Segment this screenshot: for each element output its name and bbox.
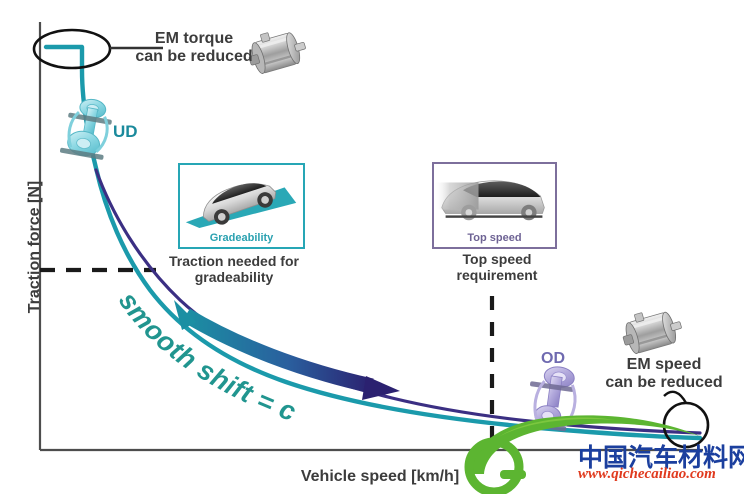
- diagram-vector-layer: smooth shift = comfort: [0, 0, 744, 494]
- top-speed-card: Top speed: [432, 162, 557, 249]
- car-speeding-icon: [434, 164, 555, 230]
- od-label: OD: [541, 350, 565, 368]
- y-axis-label: Traction force [N]: [26, 157, 44, 337]
- electric-motor-icon-bottom: [618, 303, 685, 356]
- top-speed-caption: Top speed: [434, 232, 555, 244]
- underdrive-gear-icon: [60, 95, 115, 160]
- x-axis-label: Vehicle speed [km/h]: [300, 468, 460, 486]
- gradeability-card: Gradeability: [178, 163, 305, 249]
- ud-label: UD: [113, 122, 138, 141]
- top-speed-requirement-annotation: Top speed requirement: [444, 252, 550, 283]
- em-speed-annotation: EM speed can be reduced: [600, 356, 728, 392]
- watermark-url: www.qichecailiao.com: [578, 466, 716, 483]
- em-torque-annotation: EM torque can be reduced: [133, 30, 255, 66]
- figure-canvas: smooth shift = comfort: [0, 0, 744, 494]
- gradeability-caption: Gradeability: [180, 232, 303, 244]
- traction-needed-annotation: Traction needed for gradeability: [158, 254, 310, 285]
- car-on-slope-icon: [180, 165, 303, 231]
